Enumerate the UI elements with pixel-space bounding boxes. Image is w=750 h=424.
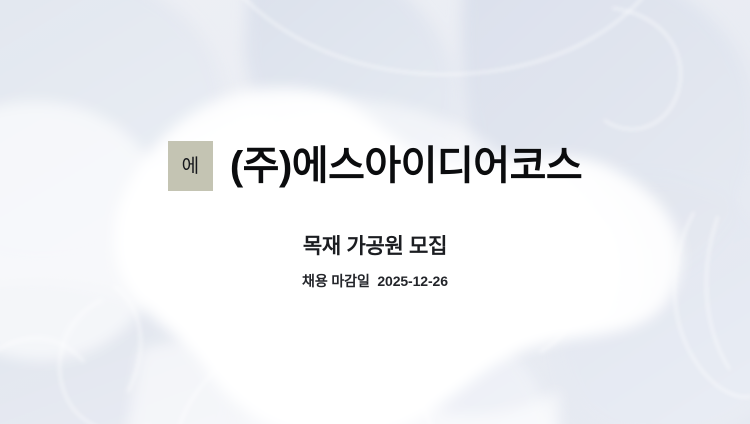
- company-name: (주)에스아이디어코스: [230, 145, 582, 187]
- company-header-row: 에 (주)에스아이디어코스: [0, 141, 750, 191]
- job-title: 목재 가공원 모집: [0, 234, 750, 259]
- company-logo-badge: 에: [168, 141, 213, 191]
- application-deadline: 채용 마감일 2025-12-26: [0, 273, 750, 290]
- poster-content: 에 (주)에스아이디어코스 목재 가공원 모집 채용 마감일 2025-12-2…: [0, 0, 750, 424]
- company-logo-initial: 에: [182, 157, 199, 176]
- job-posting-card: 에 (주)에스아이디어코스 목재 가공원 모집 채용 마감일 2025-12-2…: [0, 0, 750, 424]
